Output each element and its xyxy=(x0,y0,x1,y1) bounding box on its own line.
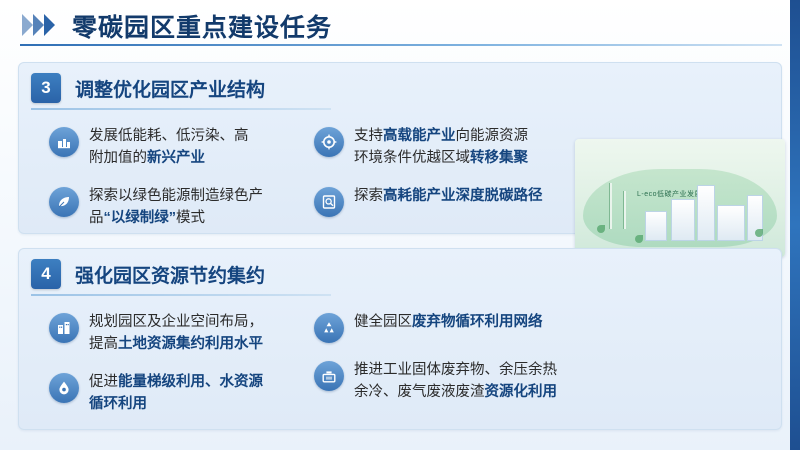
bullet-emphasis: 新兴产业 xyxy=(147,150,205,166)
bullet-text: 探索高耗能产业深度脱碳路径 xyxy=(354,185,543,207)
waste-industry-icon xyxy=(314,361,344,391)
bullet-item: 探索高耗能产业深度脱碳路径 xyxy=(314,185,569,217)
building-plan-icon xyxy=(49,313,79,343)
bullet-line: 推进工业固体废弃物、余压余热 xyxy=(354,362,557,378)
bullet-line: 余冷、废气废液废渣 xyxy=(354,384,485,400)
section-3-header: 3 调整优化园区产业结构 xyxy=(31,73,265,103)
double-chevron-right-icon xyxy=(22,14,66,36)
bullet-item: 规划园区及企业空间布局， 提高土地资源集约利用水平 xyxy=(49,311,299,356)
bullet-line: 健全园区 xyxy=(354,314,412,330)
bullet-item: 支持高载能产业向能源资源 环境条件优越区域转移集聚 xyxy=(314,125,569,170)
bullet-text: 支持高载能产业向能源资源 环境条件优越区域转移集聚 xyxy=(354,125,528,170)
section-3-number: 3 xyxy=(31,73,61,103)
factory-icon xyxy=(49,127,79,157)
bullet-line: 支持 xyxy=(354,128,383,144)
section-3-title: 调整优化园区产业结构 xyxy=(75,75,265,102)
bullet-text: 规划园区及企业空间布局， 提高土地资源集约利用水平 xyxy=(89,311,263,356)
bullet-emphasis: 循环利用 xyxy=(89,396,147,412)
bullet-text: 促进能量梯级利用、水资源 循环利用 xyxy=(89,371,263,416)
section-4-title: 强化园区资源节约集约 xyxy=(75,261,265,288)
section-4-number: 4 xyxy=(31,259,61,289)
right-edge-strip xyxy=(790,0,800,450)
bullet-text: 健全园区废弃物循环利用网络 xyxy=(354,311,543,333)
bullet-line: 探索以绿色能源制造绿色产 xyxy=(89,188,263,204)
bullet-item: 探索以绿色能源制造绿色产 品“以绿制绿”模式 xyxy=(49,185,294,230)
bullet-text: 探索以绿色能源制造绿色产 品“以绿制绿”模式 xyxy=(89,185,263,230)
recycle-icon xyxy=(314,313,344,343)
bullet-emphasis: 能量梯级利用、水资源 xyxy=(118,374,263,390)
page-title: 零碳园区重点建设任务 xyxy=(72,8,332,44)
bullet-emphasis: 废弃物循环利用网络 xyxy=(412,314,543,330)
section-4-title-underline xyxy=(31,294,331,296)
leaf-cycle-icon xyxy=(49,187,79,217)
bullet-line: 规划园区及企业空间布局， xyxy=(89,314,263,330)
bullet-emphasis: “以绿制绿” xyxy=(104,210,177,226)
bullet-emphasis: 转移集聚 xyxy=(470,150,528,166)
slide-header: 零碳园区重点建设任务 xyxy=(0,0,790,48)
bullet-emphasis: 土地资源集约利用水平 xyxy=(118,336,263,352)
header-divider xyxy=(20,44,782,46)
bullet-text: 推进工业固体废弃物、余压余热 余冷、废气废液废渣资源化利用 xyxy=(354,359,557,404)
bullet-item: 推进工业固体废弃物、余压余热 余冷、废气废液废渣资源化利用 xyxy=(314,359,569,404)
bullet-emphasis: 高载能产业 xyxy=(383,128,456,144)
bullet-line: 向能源资源 xyxy=(456,128,529,144)
eco-industry-illustration: L-eco低碳产业发展 xyxy=(575,139,785,257)
bullet-line: 环境条件优越区域 xyxy=(354,150,470,166)
search-doc-icon xyxy=(314,187,344,217)
gear-energy-icon xyxy=(314,127,344,157)
bullet-text: 发展低能耗、低污染、高 附加值的新兴产业 xyxy=(89,125,249,170)
bullet-emphasis: 资源化利用 xyxy=(485,384,558,400)
bullet-emphasis: 高耗能产业深度脱碳路径 xyxy=(383,188,543,204)
section-3-title-underline xyxy=(31,108,331,110)
bullet-item: 发展低能耗、低污染、高 附加值的新兴产业 xyxy=(49,125,294,170)
bullet-item: 促进能量梯级利用、水资源 循环利用 xyxy=(49,371,299,416)
bullet-line: 品 xyxy=(89,210,104,226)
bullet-line: 促进 xyxy=(89,374,118,390)
bullet-line: 附加值的 xyxy=(89,150,147,166)
slide-root: 零碳园区重点建设任务 3 调整优化园区产业结构 发展低能耗、低污染、高 附加值的… xyxy=(0,0,800,450)
bullet-line: 发展低能耗、低污染、高 xyxy=(89,128,249,144)
illustration-caption: L-eco低碳产业发展 xyxy=(637,189,702,199)
section-card-4: 4 强化园区资源节约集约 规划园区及企业空间布局， 提高土地资源集约利用水平 xyxy=(18,248,782,430)
bullet-line: 探索 xyxy=(354,188,383,204)
section-card-3: 3 调整优化园区产业结构 发展低能耗、低污染、高 附加值的新兴产业 xyxy=(18,62,782,234)
bullet-line: 模式 xyxy=(176,210,205,226)
bullet-item: 健全园区废弃物循环利用网络 xyxy=(314,311,564,343)
bullet-line: 提高 xyxy=(89,336,118,352)
section-4-header: 4 强化园区资源节约集约 xyxy=(31,259,265,289)
water-drop-icon xyxy=(49,373,79,403)
